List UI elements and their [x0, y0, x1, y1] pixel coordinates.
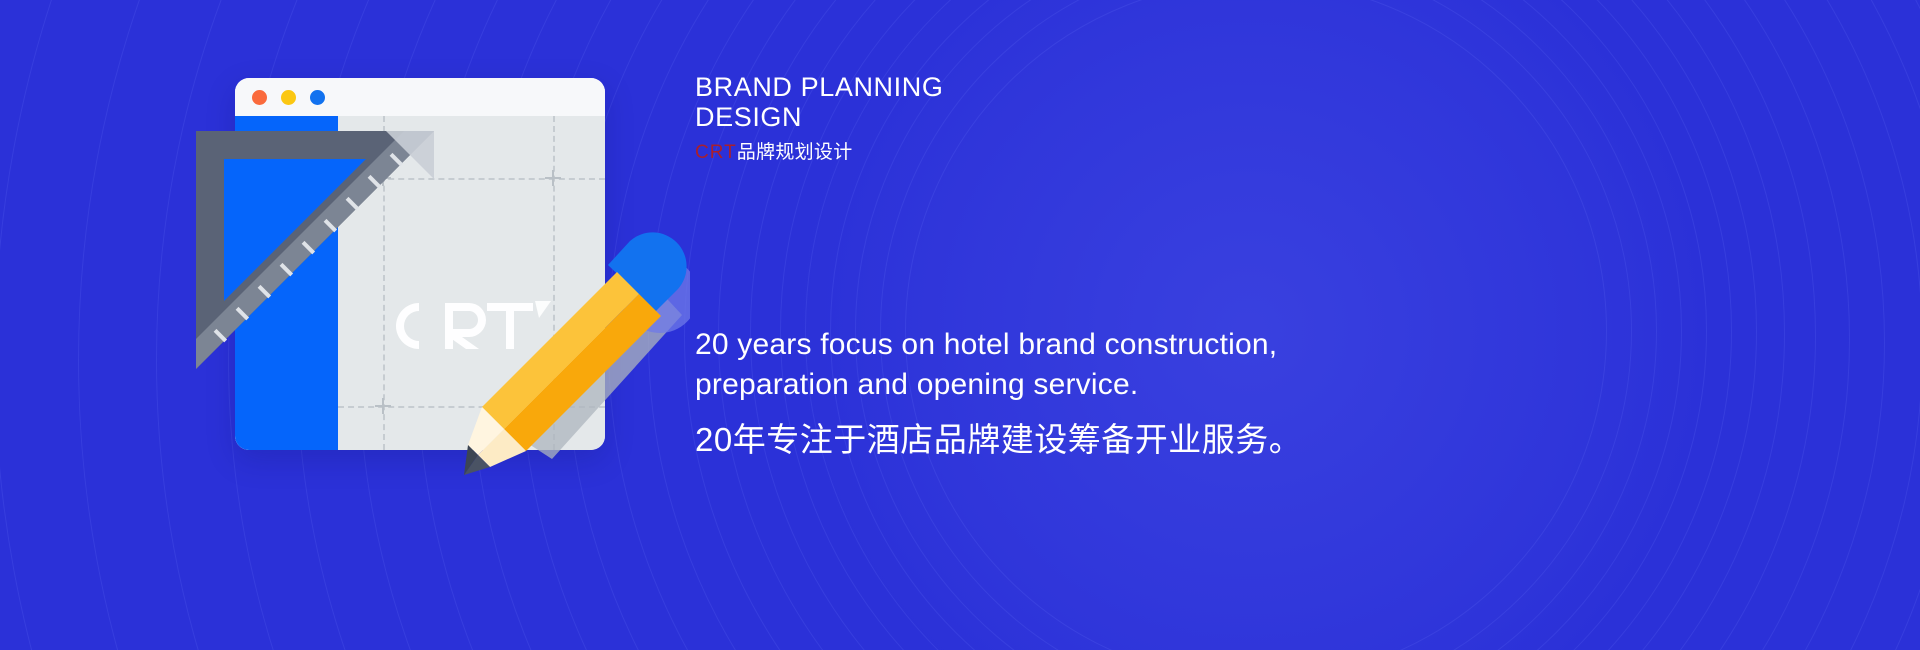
tagline-chinese: 20年专注于酒店品牌建设筹备开业服务。	[695, 419, 1395, 460]
subtitle-brand: CRT	[695, 142, 737, 163]
triangle-ruler-icon	[190, 125, 440, 375]
brand-banner: BRAND PLANNING DESIGN CRT品牌规划设计 20 years…	[0, 0, 1920, 650]
subtitle: CRT品牌规划设计	[695, 142, 1255, 165]
page-title: BRAND PLANNING DESIGN	[695, 72, 1255, 132]
tagline-block: 20 years focus on hotel brand constructi…	[695, 325, 1395, 460]
minimize-dot-icon	[281, 90, 296, 105]
close-dot-icon	[252, 90, 267, 105]
pencil-icon	[460, 223, 690, 483]
tagline-english: 20 years focus on hotel brand constructi…	[695, 325, 1395, 405]
guide-crosshair-3	[375, 398, 391, 414]
headline-block: BRAND PLANNING DESIGN CRT品牌规划设计	[695, 72, 1255, 165]
window-titlebar	[235, 78, 605, 116]
guide-crosshair-2	[545, 170, 561, 186]
brand-illustration	[190, 78, 690, 478]
subtitle-rest: 品牌规划设计	[737, 142, 853, 163]
maximize-dot-icon	[310, 90, 325, 105]
